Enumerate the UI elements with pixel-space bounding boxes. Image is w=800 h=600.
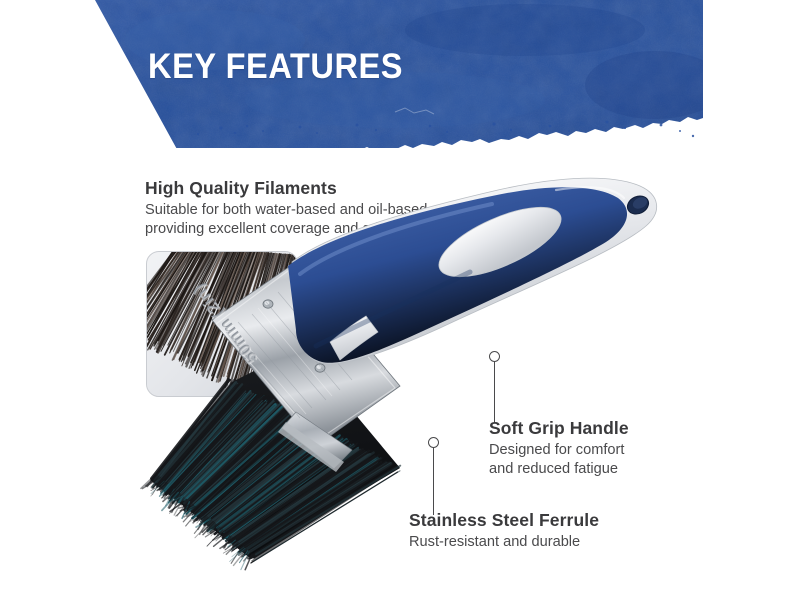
page-title: KEY FEATURES (148, 47, 403, 87)
infographic-canvas: KEY FEATURES High Quality Filaments Suit… (0, 0, 800, 600)
brush-handle (288, 178, 657, 364)
paint-brush-illustration: 50mm (2in) 50mm (2in) (0, 150, 800, 600)
brush-vector: 50mm (2in) 50mm (2in) (0, 150, 800, 600)
header-banner: KEY FEATURES (95, 0, 703, 148)
